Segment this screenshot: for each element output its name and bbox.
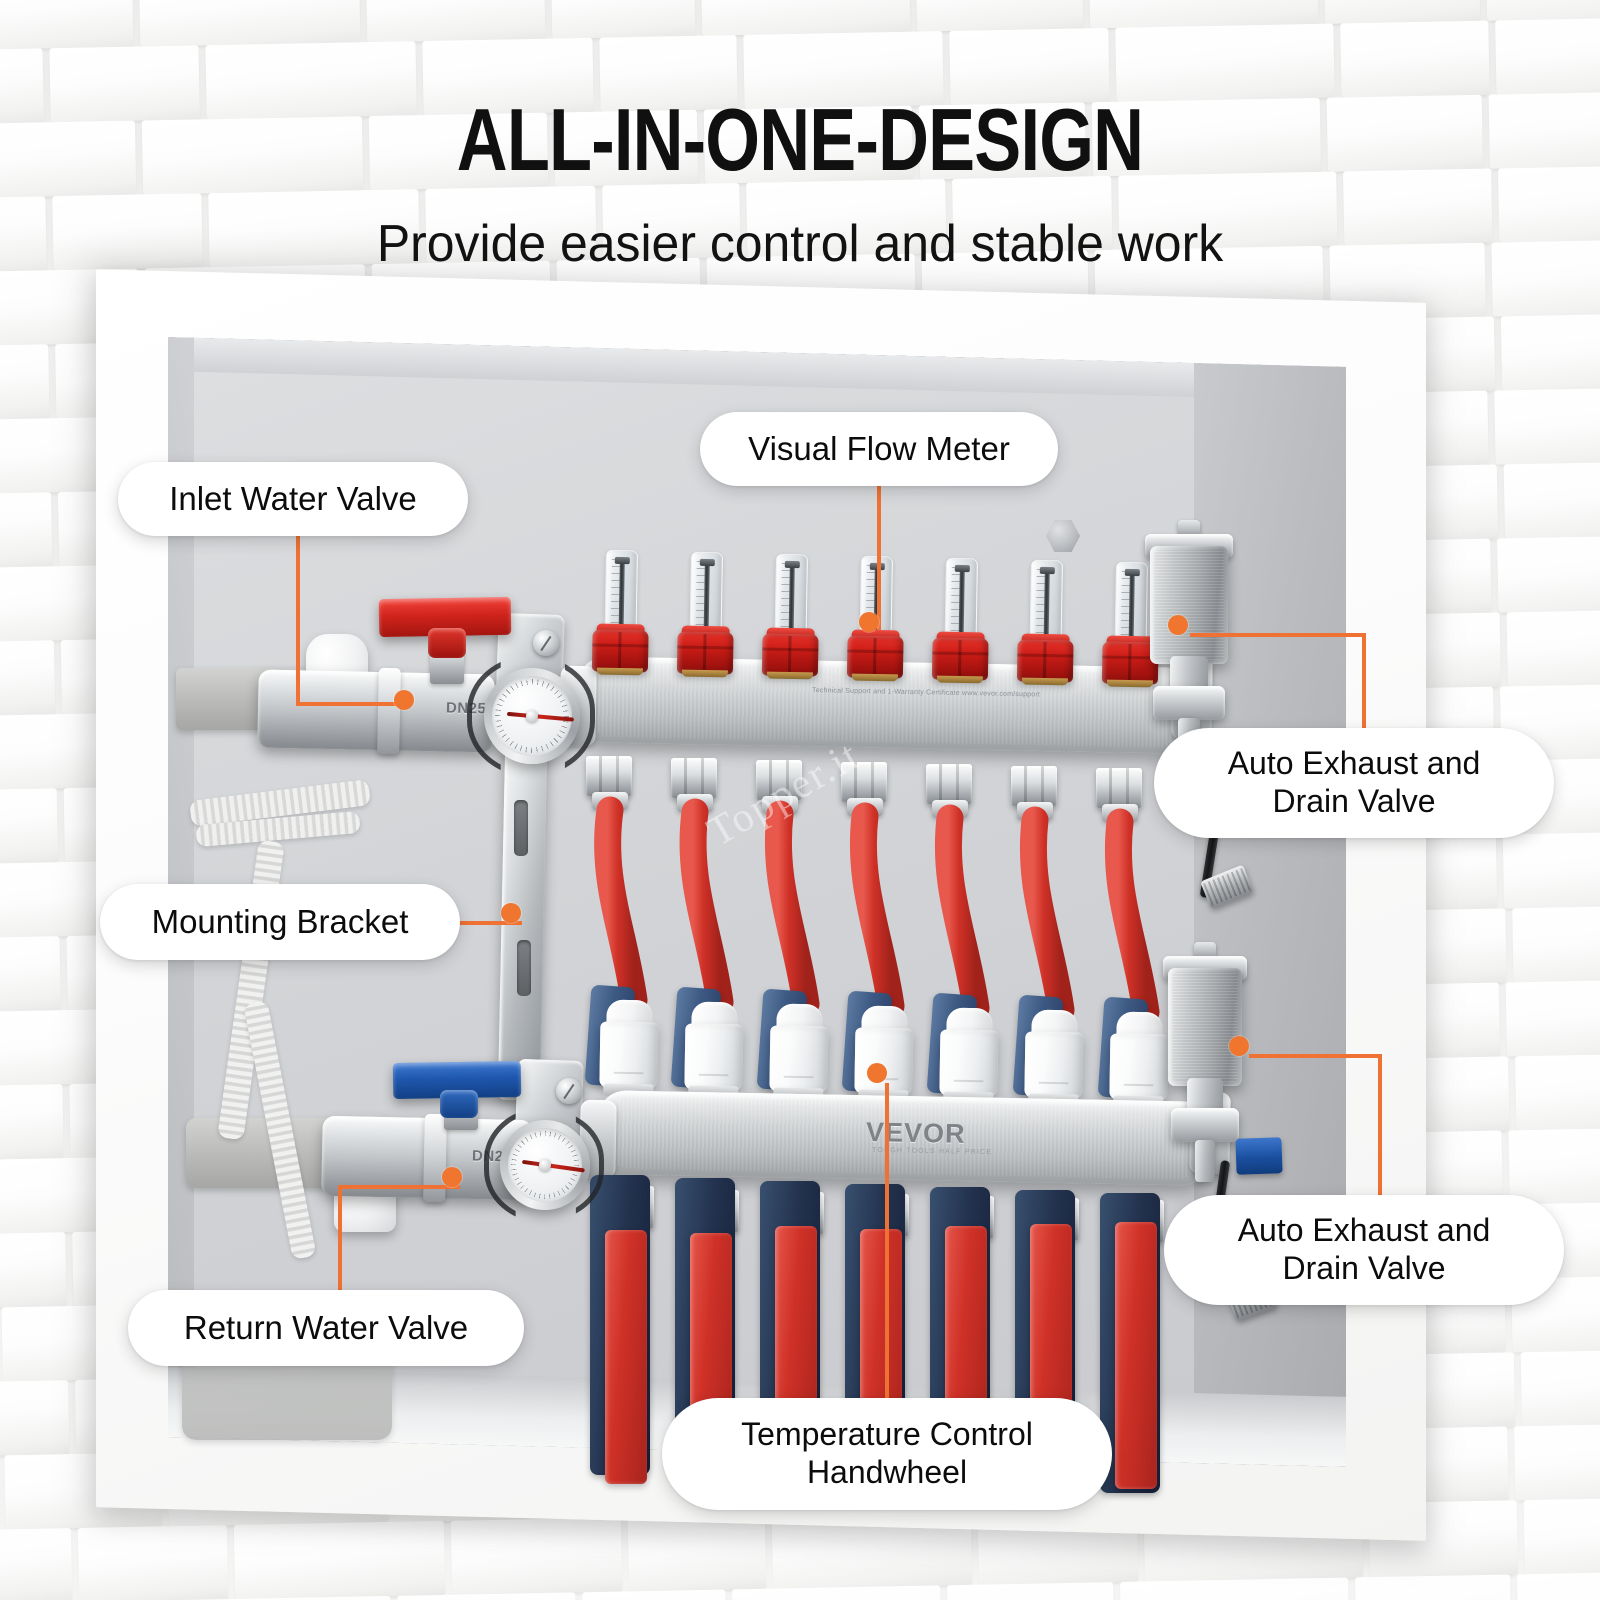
handwheel-body: [1024, 1031, 1083, 1098]
temperature-control-handwheel[interactable]: [684, 1002, 744, 1099]
page-title: ALL-IN-ONE-DESIGN: [160, 96, 1440, 184]
callout-mounting-bracket[interactable]: Mounting Bracket: [100, 884, 460, 960]
callout-label: Return Water Valve: [184, 1309, 468, 1348]
inlet-valve-handle-hub: [428, 628, 466, 658]
callout-label: Auto Exhaust and Drain Valve: [1238, 1212, 1491, 1288]
temperature-control-handwheel[interactable]: [1109, 1012, 1169, 1109]
auto-exhaust-drain-valve-bottom[interactable]: [1168, 950, 1242, 1186]
callout-anchor-dot: [859, 612, 879, 632]
callout-temperature-control-handwheel[interactable]: Temperature Control Handwheel: [662, 1398, 1112, 1510]
exhaust-valve-tee: [1171, 1108, 1239, 1142]
exhaust-valve-body: [1150, 546, 1228, 664]
callout-label: Mounting Bracket: [152, 903, 409, 942]
handwheel-body: [1109, 1033, 1168, 1100]
callout-anchor-dot: [867, 1063, 887, 1083]
temperature-control-handwheel[interactable]: [769, 1004, 829, 1101]
callout-anchor-dot: [442, 1167, 462, 1187]
callout-label: Temperature Control Handwheel: [741, 1416, 1033, 1492]
callout-label: Visual Flow Meter: [748, 430, 1010, 469]
handwheel-body: [684, 1023, 743, 1090]
callout-leader-line: [1190, 633, 1366, 637]
callout-return-water-valve[interactable]: Return Water Valve: [128, 1290, 524, 1366]
exhaust-valve-tee: [1153, 686, 1225, 720]
exhaust-valve-body: [1168, 968, 1242, 1086]
callout-leader-line: [296, 536, 300, 704]
inlet-valve-ring: [377, 668, 401, 754]
callout-leader-line: [338, 1185, 460, 1189]
callout-leader-line: [338, 1185, 342, 1293]
pex-return-pipe: [605, 1230, 647, 1484]
temperature-control-handwheel[interactable]: [1024, 1010, 1084, 1107]
callout-label: Inlet Water Valve: [169, 480, 417, 519]
infographic-stage: Technical Support and 1-Warranty Certifi…: [0, 0, 1600, 1600]
callout-anchor-dot: [1168, 615, 1188, 635]
gauge-center-hub: [539, 1159, 551, 1171]
vevor-brand-logo: VEVOR: [866, 1117, 966, 1150]
callout-leader-line: [1249, 1054, 1382, 1058]
callout-anchor-dot: [1229, 1036, 1249, 1056]
inlet-temperature-gauge: [484, 668, 580, 764]
handwheel-body: [599, 1021, 658, 1088]
page-subtitle: Provide easier control and stable work: [32, 216, 1568, 273]
pex-return-pipe: [1115, 1222, 1157, 1489]
handwheel-body: [769, 1025, 828, 1092]
callout-inlet-water-valve[interactable]: Inlet Water Valve: [118, 462, 468, 536]
callout-auto-exhaust-drain-valve-top[interactable]: Auto Exhaust and Drain Valve: [1154, 728, 1554, 838]
callout-label: Auto Exhaust and Drain Valve: [1228, 745, 1481, 821]
handwheel-body: [939, 1029, 998, 1096]
exhaust-drain-stub: [1195, 1140, 1216, 1182]
callout-leader-line: [1378, 1054, 1382, 1204]
callout-leader-line: [877, 486, 881, 630]
temperature-control-handwheel[interactable]: [599, 1000, 659, 1097]
temperature-control-handwheel[interactable]: [939, 1008, 999, 1105]
return-temperature-gauge: [500, 1120, 590, 1210]
gauge-center-hub: [526, 710, 538, 722]
callout-anchor-dot: [501, 903, 521, 923]
temperature-control-handwheel[interactable]: [854, 1006, 914, 1103]
callout-anchor-dot: [394, 690, 414, 710]
drain-ball-valve-handle[interactable]: [1235, 1137, 1282, 1175]
callout-auto-exhaust-drain-valve-bottom[interactable]: Auto Exhaust and Drain Valve: [1164, 1195, 1564, 1305]
return-valve-handle-hub: [440, 1090, 478, 1118]
callout-leader-line: [1362, 633, 1366, 735]
callout-visual-flow-meter[interactable]: Visual Flow Meter: [700, 412, 1058, 486]
callout-leader-line: [885, 1083, 889, 1401]
handwheel-body: [854, 1027, 913, 1094]
